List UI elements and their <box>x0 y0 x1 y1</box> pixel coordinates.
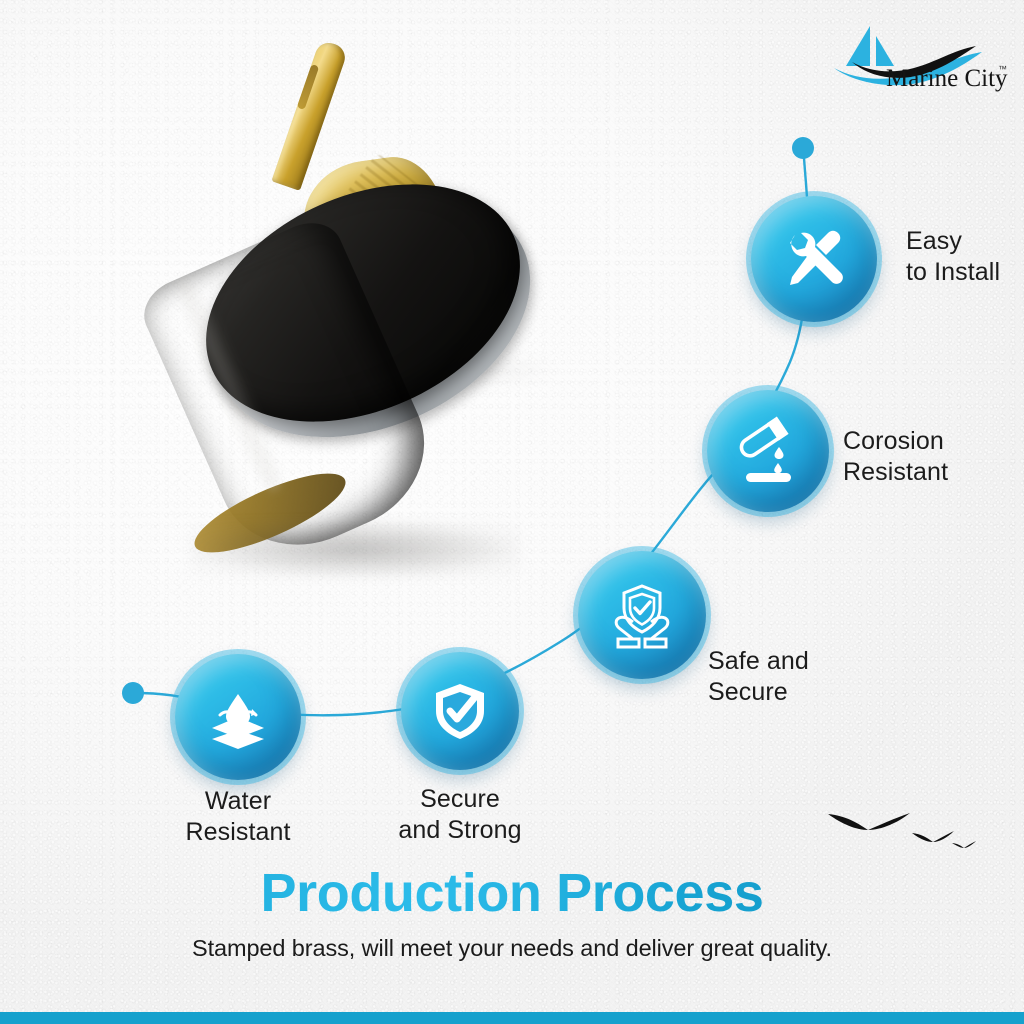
feature-label-secure-and-strong: Secure and Strong <box>370 784 550 845</box>
feature-label-corosion-resistant: Corosion Resistant <box>843 426 1024 487</box>
product-drop-shadow <box>190 520 520 578</box>
water-droplet-layers-icon[interactable] <box>175 654 301 780</box>
page-subtitle: Stamped brass, will meet your needs and … <box>0 935 1024 962</box>
shield-in-hands-icon[interactable] <box>578 551 706 679</box>
page-title: Production Process <box>0 866 1024 921</box>
feature-label-safe-and-secure: Safe and Secure <box>708 646 918 707</box>
flow-end-dot <box>792 137 814 159</box>
flying-birds-icon <box>826 800 986 850</box>
trademark-symbol: ™ <box>998 64 1007 74</box>
product-image <box>150 20 580 600</box>
headline-block: Production Process Stamped brass, will m… <box>0 866 1024 962</box>
shield-check-solid-icon[interactable] <box>401 652 519 770</box>
brand-wordmark: Marine City <box>886 65 1008 92</box>
infographic-canvas: Marine City ™ <box>0 0 1024 1024</box>
test-tube-drip-icon[interactable] <box>707 390 829 512</box>
feature-label-easy-to-install: Easy to Install <box>906 226 1024 287</box>
brand-logo[interactable]: Marine City ™ <box>830 22 1008 94</box>
bottom-accent-bar <box>0 1012 1024 1024</box>
wrench-screwdriver-icon[interactable] <box>751 196 877 322</box>
flow-start-dot <box>122 682 144 704</box>
feature-label-water-resistant: Water Resistant <box>148 786 328 847</box>
